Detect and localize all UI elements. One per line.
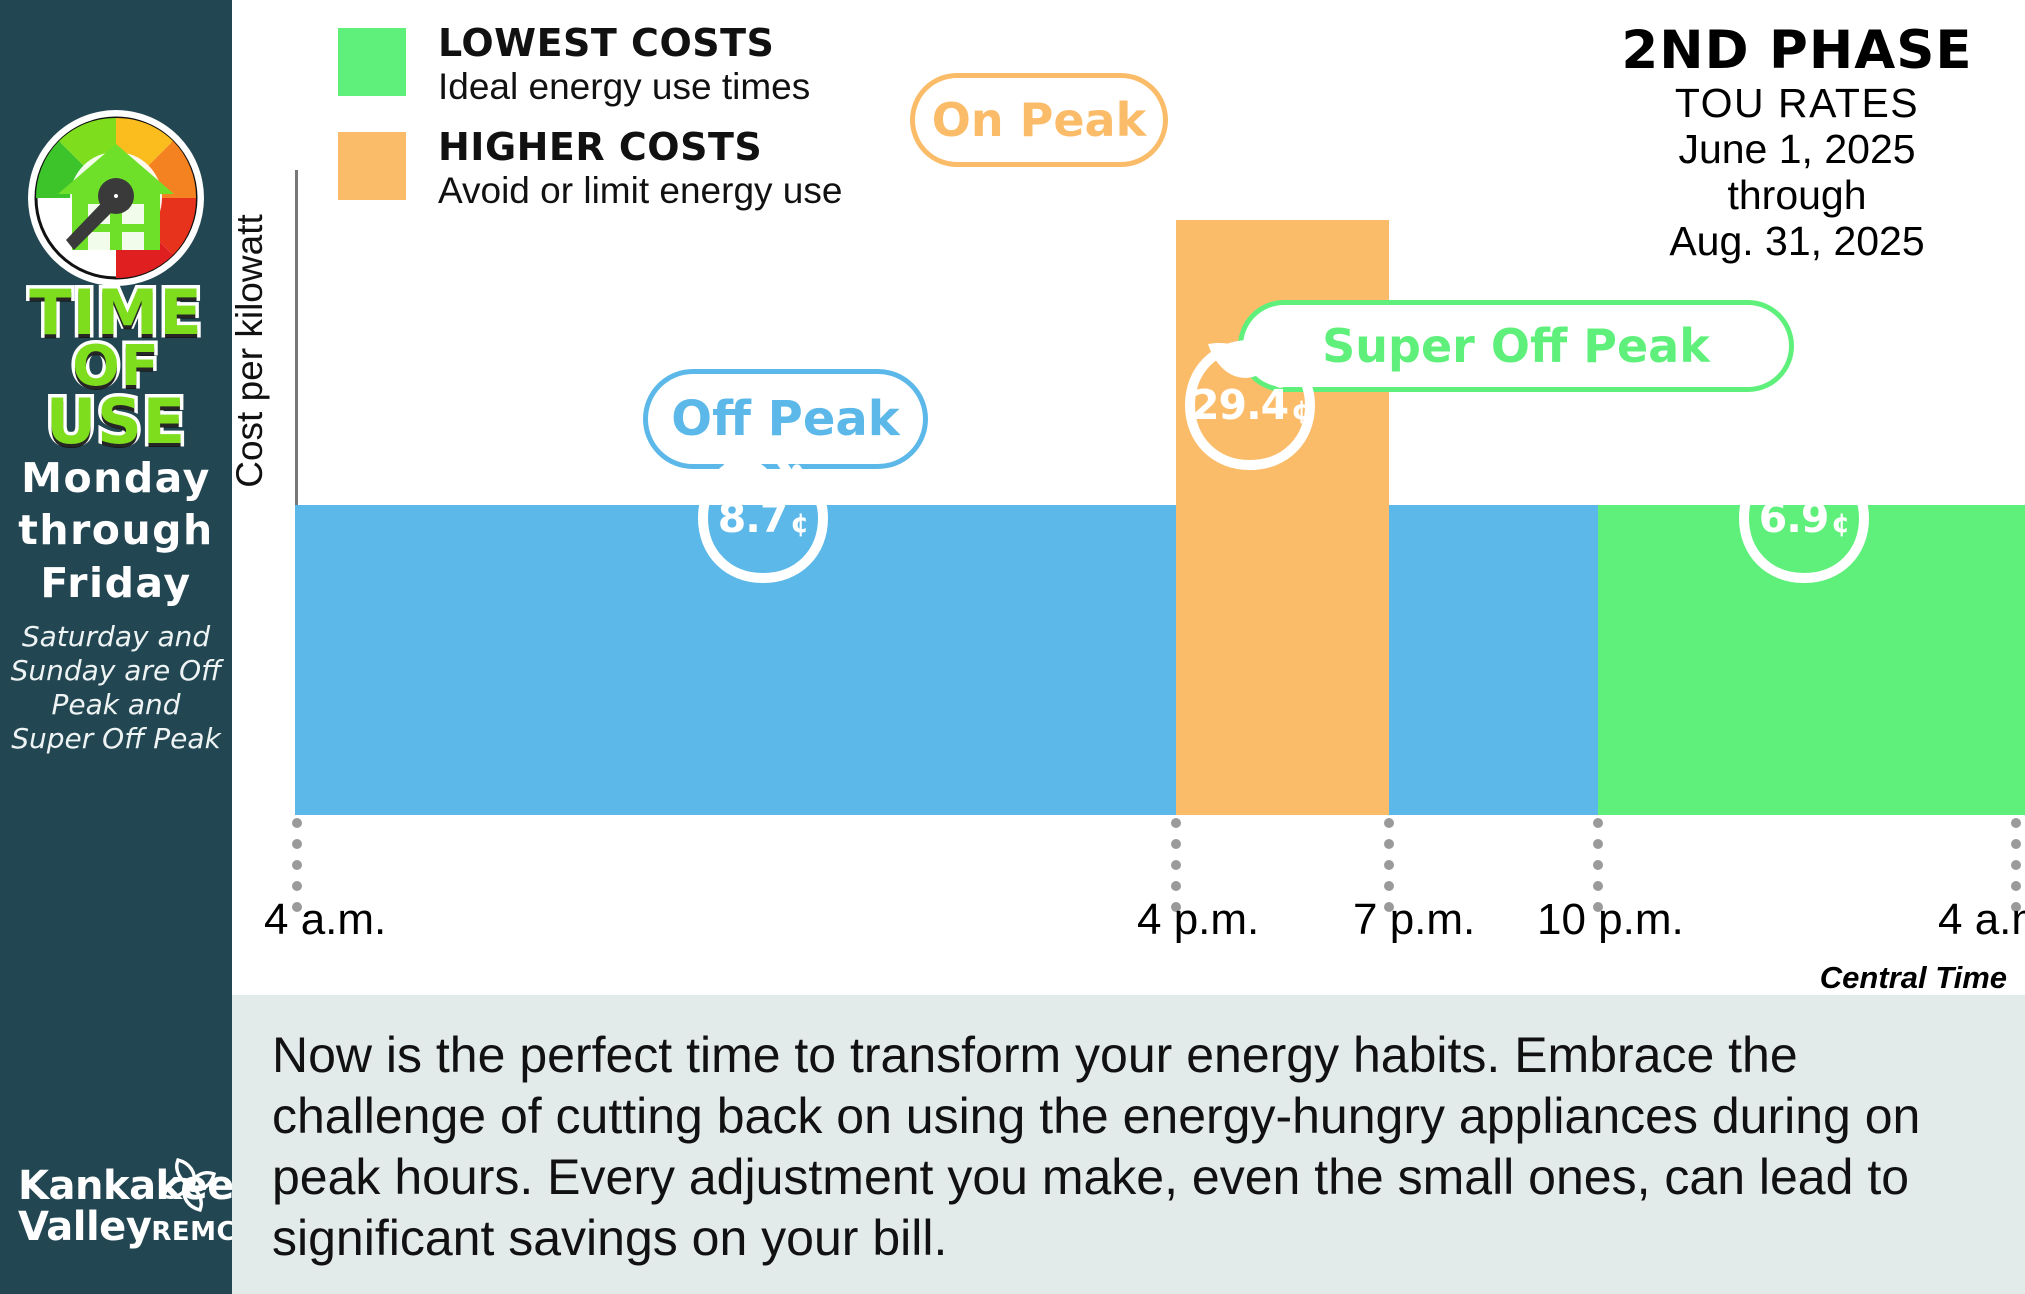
weekend-note: Saturday and Sunday are Off Peak and Sup… bbox=[8, 620, 224, 757]
tick-label-4pm: 4 p.m. bbox=[1137, 895, 1259, 945]
y-axis-label: Cost per kilowatt bbox=[229, 91, 271, 611]
tick-label-4am-left: 4 a.m. bbox=[264, 895, 386, 945]
tick-label-7pm: 7 p.m. bbox=[1353, 895, 1475, 945]
badge-on-peak-value: 29.4¢ bbox=[1175, 381, 1325, 429]
tick-label-10pm: 10 p.m. bbox=[1537, 895, 1684, 945]
footer-paragraph: Now is the perfect time to transform you… bbox=[272, 1025, 1992, 1269]
footer-panel: Now is the perfect time to transform you… bbox=[232, 995, 2025, 1294]
sidebar: TIME OF USE Monday through Friday Saturd… bbox=[0, 0, 232, 1294]
bar-off-peak-evening bbox=[1389, 505, 1598, 815]
days-line-2: through bbox=[0, 504, 232, 556]
tick-label-4am-right: 4 a.m. bbox=[1938, 895, 2025, 945]
badge-off-peak-cost: 8.7¢ bbox=[688, 440, 838, 590]
swirl-logo-icon bbox=[156, 1152, 222, 1223]
badge-super-off-peak-value: 6.9¢ bbox=[1729, 494, 1879, 542]
badge-super-off-peak-cost: 6.9¢ bbox=[1729, 440, 1879, 590]
pill-on-peak: On Peak bbox=[910, 73, 1168, 167]
brand-valley: Valley bbox=[18, 1204, 151, 1250]
days-line-1: Monday bbox=[0, 452, 232, 504]
infographic-root: TIME OF USE Monday through Friday Saturd… bbox=[0, 0, 2025, 1294]
kankakee-valley-remc-logo: Kankakee ValleyREMC bbox=[18, 1166, 228, 1248]
pill-on-peak-label: On Peak bbox=[932, 93, 1146, 147]
chart-panel: LOWEST COSTS Ideal energy use times HIGH… bbox=[232, 0, 2025, 995]
central-time-note: Central Time bbox=[1820, 960, 2007, 996]
logo-line-time: TIME bbox=[0, 284, 232, 341]
pill-off-peak-label: Off Peak bbox=[671, 391, 899, 447]
pill-super-off-peak-label: Super Off Peak bbox=[1322, 319, 1710, 373]
time-of-use-logo: TIME OF USE bbox=[0, 108, 232, 450]
house-gauge-icon bbox=[26, 108, 206, 288]
badge-off-peak-value: 8.7¢ bbox=[688, 494, 838, 542]
days-heading: Monday through Friday bbox=[0, 452, 232, 609]
logo-line-use: USE bbox=[0, 393, 232, 450]
badge-on-peak-cost: 29.4¢ bbox=[1175, 327, 1325, 477]
days-line-3: Friday bbox=[0, 557, 232, 609]
